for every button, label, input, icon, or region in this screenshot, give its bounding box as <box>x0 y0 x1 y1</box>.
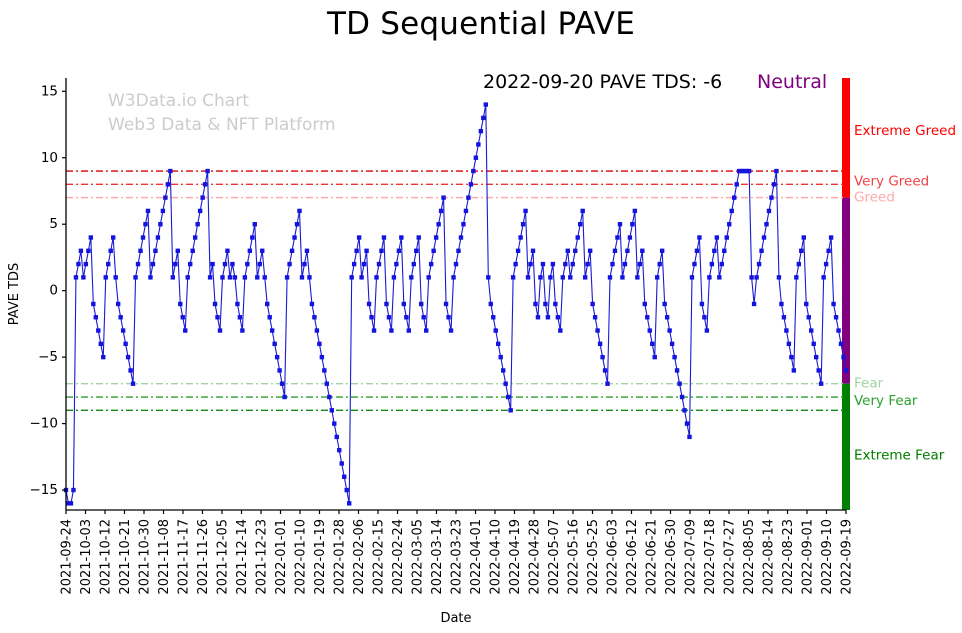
x-tick-label: 2022-08-14 <box>761 519 776 595</box>
data-point <box>697 235 701 239</box>
data-point <box>136 262 140 266</box>
data-point <box>426 275 430 279</box>
extreme-greed-label: Extreme Greed <box>854 123 956 139</box>
data-point <box>369 315 373 319</box>
data-point <box>272 342 276 346</box>
data-point <box>523 209 527 213</box>
data-point <box>454 262 458 266</box>
data-point <box>332 421 336 425</box>
data-point <box>710 262 714 266</box>
y-tick-label: −10 <box>30 416 59 432</box>
data-point <box>193 235 197 239</box>
data-point <box>118 315 122 319</box>
data-point <box>583 275 587 279</box>
x-tick-label: 2022-02-24 <box>391 519 406 595</box>
data-point <box>821 275 825 279</box>
data-point <box>382 235 386 239</box>
data-point <box>615 235 619 239</box>
data-point <box>585 262 589 266</box>
data-point <box>161 209 165 213</box>
x-tick-label: 2022-07-27 <box>722 519 737 595</box>
data-point <box>156 235 160 239</box>
data-point <box>131 382 135 386</box>
data-point <box>238 315 242 319</box>
data-point <box>392 275 396 279</box>
data-point <box>362 262 366 266</box>
x-tick-label: 2022-06-12 <box>625 519 640 595</box>
data-point <box>133 275 137 279</box>
data-point <box>94 315 98 319</box>
data-point <box>349 275 353 279</box>
data-point <box>834 315 838 319</box>
data-point <box>603 368 607 372</box>
x-tick-label: 2022-06-21 <box>644 519 659 595</box>
data-point <box>198 209 202 213</box>
data-point <box>250 235 254 239</box>
data-point <box>287 262 291 266</box>
data-point <box>359 275 363 279</box>
data-point <box>86 249 90 253</box>
data-point <box>553 302 557 306</box>
data-point <box>727 222 731 226</box>
data-point <box>787 342 791 346</box>
data-point <box>300 275 304 279</box>
data-point <box>489 302 493 306</box>
data-point <box>807 315 811 319</box>
data-point <box>444 302 448 306</box>
data-point <box>267 315 271 319</box>
data-point <box>419 302 423 306</box>
data-point <box>474 156 478 160</box>
data-point <box>782 315 786 319</box>
data-point <box>690 275 694 279</box>
data-point <box>638 262 642 266</box>
data-point <box>215 315 219 319</box>
y-tick-label: 0 <box>49 283 58 299</box>
x-tick-label: 2022-08-05 <box>742 519 757 595</box>
x-tick-label: 2022-07-18 <box>703 519 718 595</box>
data-point <box>69 501 73 505</box>
data-point <box>153 249 157 253</box>
data-point <box>270 328 274 332</box>
data-point <box>81 275 85 279</box>
x-tick-label: 2022-04-01 <box>469 519 484 595</box>
data-point <box>158 222 162 226</box>
data-point <box>91 302 95 306</box>
data-point <box>717 275 721 279</box>
data-point <box>541 262 545 266</box>
data-point <box>71 488 75 492</box>
data-point <box>476 142 480 146</box>
data-point <box>595 328 599 332</box>
data-point <box>248 249 252 253</box>
data-point <box>384 302 388 306</box>
data-point <box>394 262 398 266</box>
data-point <box>682 408 686 412</box>
data-point <box>503 382 507 386</box>
data-point <box>436 222 440 226</box>
data-point <box>208 275 212 279</box>
data-point <box>757 262 761 266</box>
data-point <box>330 408 334 412</box>
data-point <box>412 262 416 266</box>
data-point <box>633 209 637 213</box>
data-point <box>325 382 329 386</box>
data-point <box>89 235 93 239</box>
data-point <box>499 355 503 359</box>
data-point <box>143 222 147 226</box>
data-point <box>181 315 185 319</box>
x-tick-label: 2021-11-08 <box>157 519 172 595</box>
data-point <box>640 249 644 253</box>
data-point <box>824 262 828 266</box>
data-point <box>516 249 520 253</box>
data-point <box>725 235 729 239</box>
data-point <box>677 382 681 386</box>
x-tick-label: 2022-09-01 <box>800 519 815 595</box>
data-point <box>126 355 130 359</box>
data-point <box>315 328 319 332</box>
data-point <box>809 328 813 332</box>
data-point <box>496 342 500 346</box>
data-point <box>526 275 530 279</box>
x-tick-label: 2022-06-03 <box>605 519 620 595</box>
data-point <box>590 302 594 306</box>
data-point <box>345 488 349 492</box>
data-point <box>513 262 517 266</box>
data-point <box>76 262 80 266</box>
data-point <box>280 382 284 386</box>
x-tick-label: 2022-01-19 <box>313 519 328 595</box>
x-tick-label: 2022-01-28 <box>332 519 347 595</box>
data-point <box>784 328 788 332</box>
data-point <box>680 395 684 399</box>
data-point <box>735 182 739 186</box>
data-point <box>379 249 383 253</box>
data-point <box>648 328 652 332</box>
x-tick-label: 2021-10-12 <box>98 519 113 595</box>
data-point <box>84 262 88 266</box>
data-point <box>588 249 592 253</box>
extreme-fear-label: Extreme Fear <box>854 448 945 464</box>
data-point <box>695 249 699 253</box>
x-tick-label: 2022-01-10 <box>293 519 308 595</box>
data-point <box>600 355 604 359</box>
current-value-annotation: 2022-09-20 PAVE TDS: -6 <box>483 71 722 93</box>
data-point <box>635 275 639 279</box>
data-point <box>99 342 103 346</box>
data-point <box>106 262 110 266</box>
data-point <box>178 302 182 306</box>
data-point <box>277 368 281 372</box>
data-point <box>96 328 100 332</box>
data-point <box>712 249 716 253</box>
data-point <box>104 275 108 279</box>
very-greed-label: Very Greed <box>854 174 929 190</box>
data-point <box>449 328 453 332</box>
data-point <box>797 262 801 266</box>
data-point <box>841 355 845 359</box>
data-point <box>593 315 597 319</box>
data-point <box>121 328 125 332</box>
x-tick-label: 2022-05-07 <box>547 519 562 595</box>
data-point <box>451 275 455 279</box>
data-point <box>561 275 565 279</box>
data-point <box>409 275 413 279</box>
data-point <box>188 262 192 266</box>
data-point <box>598 342 602 346</box>
data-point <box>571 262 575 266</box>
y-axis-label: PAVE TDS <box>7 263 22 326</box>
data-point <box>240 328 244 332</box>
data-point <box>494 328 498 332</box>
watermark: W3Data.io Chart Web3 Data & NFT Platform <box>108 91 336 135</box>
data-point <box>163 195 167 199</box>
data-point <box>707 275 711 279</box>
data-point <box>836 328 840 332</box>
data-point <box>297 209 301 213</box>
chart-figure: TD Sequential PAVE W3Data.io Chart Web3 … <box>0 0 962 633</box>
data-point <box>200 195 204 199</box>
data-point <box>548 275 552 279</box>
data-point <box>305 249 309 253</box>
data-point <box>387 315 391 319</box>
data-point <box>518 235 522 239</box>
data-point <box>580 209 584 213</box>
data-point <box>620 275 624 279</box>
data-point <box>327 395 331 399</box>
data-point <box>486 275 490 279</box>
data-point <box>459 235 463 239</box>
very-fear-label: Very Fear <box>854 393 918 409</box>
x-tick-label: 2022-03-23 <box>449 519 464 595</box>
data-point <box>290 249 294 253</box>
data-point <box>285 275 289 279</box>
data-point <box>511 275 515 279</box>
data-point <box>471 169 475 173</box>
axes <box>66 78 846 510</box>
x-tick-label: 2022-09-19 <box>839 519 854 595</box>
data-point <box>643 302 647 306</box>
data-point <box>667 328 671 332</box>
x-tick-label: 2021-12-14 <box>235 519 250 595</box>
data-point <box>312 315 316 319</box>
x-tick-label: 2022-01-01 <box>274 519 289 595</box>
data-point <box>819 382 823 386</box>
data-point <box>461 222 465 226</box>
data-point <box>705 328 709 332</box>
data-point <box>354 249 358 253</box>
data-point <box>213 302 217 306</box>
data-point <box>546 315 550 319</box>
data-point <box>777 275 781 279</box>
data-point <box>660 249 664 253</box>
data-point <box>826 249 830 253</box>
data-point <box>255 275 259 279</box>
data-point <box>767 209 771 213</box>
data-point <box>342 475 346 479</box>
data-point <box>610 262 614 266</box>
data-point <box>417 235 421 239</box>
data-point <box>218 328 222 332</box>
data-point <box>670 342 674 346</box>
zone-labels: Extreme GreedVery GreedGreedFearVery Fea… <box>854 123 956 463</box>
data-point <box>441 195 445 199</box>
data-point <box>456 249 460 253</box>
data-point <box>431 249 435 253</box>
data-point <box>672 355 676 359</box>
data-point <box>816 368 820 372</box>
data-point <box>484 102 488 106</box>
data-point <box>844 368 848 372</box>
data-point <box>407 328 411 332</box>
data-point <box>605 382 609 386</box>
data-point <box>335 435 339 439</box>
data-point <box>754 275 758 279</box>
data-point <box>799 249 803 253</box>
data-point <box>439 209 443 213</box>
data-point <box>245 262 249 266</box>
data-point <box>109 249 113 253</box>
data-point <box>769 195 773 199</box>
data-point <box>556 315 560 319</box>
greed-label: Greed <box>854 190 895 206</box>
data-point <box>528 262 532 266</box>
data-point <box>792 368 796 372</box>
data-point <box>307 275 311 279</box>
data-point <box>322 368 326 372</box>
data-point <box>173 262 177 266</box>
data-point <box>543 302 547 306</box>
data-point <box>166 182 170 186</box>
data-point <box>364 249 368 253</box>
data-point <box>558 328 562 332</box>
data-point <box>551 262 555 266</box>
data-point <box>533 302 537 306</box>
data-point <box>176 249 180 253</box>
data-point <box>501 368 505 372</box>
data-point <box>715 235 719 239</box>
threshold-lines <box>66 171 846 410</box>
data-point <box>491 315 495 319</box>
data-point <box>675 368 679 372</box>
data-point <box>434 235 438 239</box>
data-point <box>759 249 763 253</box>
data-point <box>812 342 816 346</box>
data-point <box>389 328 393 332</box>
y-tick-label: 10 <box>41 150 58 166</box>
data-point <box>148 275 152 279</box>
data-point <box>402 302 406 306</box>
data-point <box>692 262 696 266</box>
data-point <box>352 262 356 266</box>
x-tick-label: 2021-12-23 <box>254 519 269 595</box>
data-point <box>779 302 783 306</box>
data-point <box>377 262 381 266</box>
y-axis-ticks: 151050−5−10−15 <box>30 83 67 498</box>
data-point <box>464 209 468 213</box>
data-point <box>722 249 726 253</box>
x-axis-label: Date <box>440 611 471 626</box>
data-point <box>310 302 314 306</box>
data-point <box>205 169 209 173</box>
series-polyline <box>66 105 846 504</box>
x-tick-label: 2022-04-10 <box>488 519 503 595</box>
data-point <box>568 275 572 279</box>
data-point <box>747 169 751 173</box>
y-tick-label: −15 <box>30 482 59 498</box>
data-point <box>625 249 629 253</box>
data-point <box>573 249 577 253</box>
data-point <box>653 355 657 359</box>
x-tick-label: 2022-07-09 <box>683 519 698 595</box>
data-point <box>317 342 321 346</box>
x-tick-label: 2022-03-14 <box>430 519 445 595</box>
data-point <box>372 328 376 332</box>
data-point <box>265 302 269 306</box>
data-point <box>253 222 257 226</box>
data-point <box>374 275 378 279</box>
data-point <box>79 249 83 253</box>
data-point <box>650 342 654 346</box>
y-tick-label: 5 <box>49 216 58 232</box>
data-point <box>618 222 622 226</box>
data-point <box>762 235 766 239</box>
data-point <box>263 275 267 279</box>
data-point <box>320 355 324 359</box>
data-point <box>123 342 127 346</box>
data-point <box>774 169 778 173</box>
data-point <box>260 249 264 253</box>
data-point <box>292 235 296 239</box>
data-point <box>481 116 485 120</box>
x-tick-label: 2021-11-26 <box>196 519 211 595</box>
data-point <box>804 302 808 306</box>
data-point <box>578 222 582 226</box>
data-point <box>536 315 540 319</box>
data-point <box>521 222 525 226</box>
data-point <box>235 302 239 306</box>
x-tick-label: 2022-04-19 <box>508 519 523 595</box>
data-point <box>752 302 756 306</box>
data-point <box>225 249 229 253</box>
x-tick-label: 2021-11-17 <box>176 519 191 595</box>
data-point <box>111 235 115 239</box>
zone-color-bar <box>842 78 850 510</box>
data-point <box>613 249 617 253</box>
data-point <box>101 355 105 359</box>
data-point <box>414 249 418 253</box>
data-point <box>151 262 155 266</box>
data-point <box>295 222 299 226</box>
watermark-line-2: Web3 Data & NFT Platform <box>108 115 336 135</box>
x-tick-label: 2022-09-10 <box>820 519 835 595</box>
data-point <box>839 342 843 346</box>
data-point <box>772 182 776 186</box>
data-point <box>340 461 344 465</box>
data-point <box>74 275 78 279</box>
data-point <box>789 355 793 359</box>
data-point <box>466 195 470 199</box>
data-point <box>630 222 634 226</box>
data-point <box>146 209 150 213</box>
data-point <box>655 275 659 279</box>
data-point <box>168 169 172 173</box>
data-point <box>128 368 132 372</box>
data-point <box>623 262 627 266</box>
data-point <box>228 275 232 279</box>
data-point <box>220 275 224 279</box>
